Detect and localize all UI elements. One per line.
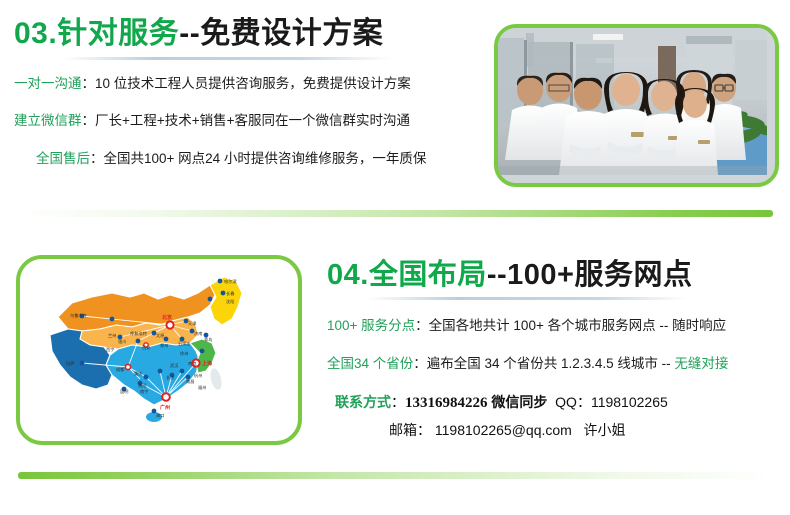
line-separator: ： [413, 356, 427, 371]
list-item: 建立微信群：厂长+工程+技术+销售+客服同在一个微信群实时沟通 [14, 111, 469, 131]
contact-email-line: 邮箱： 1198102265@qq.com 许小姐 [389, 420, 787, 440]
team-photo-frame [494, 24, 779, 187]
line-separator: ： [415, 318, 429, 333]
line-content: 全国各地共计 100+ 各个城市服务网点 -- 随时响应 [429, 318, 726, 333]
china-map-frame: 哈尔滨 长春 沈阳 石家庄 天津 济南 青岛 呼和浩特 太原 郑州 徐州 南京 … [16, 255, 302, 445]
section-04-heading-green: 04.全国布局 [327, 259, 487, 291]
email-address[interactable]: 1198102265@qq.com [435, 422, 572, 438]
svg-text:贵阳: 贵阳 [138, 382, 146, 389]
qq-number[interactable]: 1198102265 [591, 394, 668, 410]
bullet-label: 建立微信群 [14, 113, 82, 128]
line-label: 全国34 个省份 [327, 356, 413, 371]
section-03-heading-rule [62, 57, 392, 60]
promo-page: 03.针对服务--免费设计方案 一对一沟通：10 位技术工程人员提供咨询服务，免… [0, 0, 790, 515]
section-04-line-list: 100+ 服务分点：全国各地共计 100+ 各个城市服务网点 -- 随时响应 全… [327, 316, 787, 373]
svg-text:乌鲁木齐: 乌鲁木齐 [70, 312, 88, 319]
svg-text:石家庄: 石家庄 [178, 340, 191, 347]
svg-text:广州: 广州 [160, 404, 170, 411]
section-04-text-column: 04.全国布局--100+服务网点 100+ 服务分点：全国各地共计 100+ … [327, 260, 787, 440]
bullet-content: 全国共100+ 网点24 小时提供咨询维修服务，一年质保 [104, 151, 427, 166]
list-item: 全国34 个省份：遍布全国 34 个省份共 1.2.3.4.5 线城市 -- 无… [327, 354, 787, 374]
svg-text:沈阳: 沈阳 [226, 298, 234, 305]
svg-text:长沙: 长沙 [166, 374, 175, 381]
section-03-heading: 03.针对服务--免费设计方案 [14, 18, 469, 50]
section-03-bullet-list: 一对一沟通：10 位技术工程人员提供咨询服务，免费提供设计方案 建立微信群：厂长… [14, 74, 469, 169]
section-04-heading-dark: --100+服务网点 [487, 259, 693, 291]
svg-text:北京: 北京 [162, 314, 172, 321]
bullet-label: 全国售后 [36, 151, 90, 166]
contact-phone-line: 联系方式：13316984226 微信同步 QQ：1198102265 [335, 392, 787, 412]
svg-text:青岛: 青岛 [204, 336, 212, 343]
svg-text:兰州: 兰州 [108, 332, 116, 338]
qq-label: QQ： [555, 394, 591, 410]
svg-text:郑州: 郑州 [160, 342, 168, 349]
contact-label: 联系方式 [335, 394, 391, 410]
section-03-service: 03.针对服务--免费设计方案 一对一沟通：10 位技术工程人员提供咨询服务，免… [0, 0, 790, 200]
svg-text:哈尔滨: 哈尔滨 [224, 278, 237, 285]
svg-text:呼和浩特: 呼和浩特 [130, 330, 147, 337]
bullet-content: 厂长+工程+技术+销售+客服同在一个微信群实时沟通 [95, 113, 410, 128]
svg-text:济南: 济南 [194, 330, 202, 337]
section-divider-bottom [18, 472, 773, 479]
line-label: 100+ 服务分点 [327, 318, 415, 333]
contact-block: 联系方式：13316984226 微信同步 QQ：1198102265 邮箱： … [327, 392, 787, 440]
contact-separator: ： [391, 394, 405, 410]
list-item: 一对一沟通：10 位技术工程人员提供咨询服务，免费提供设计方案 [14, 74, 469, 94]
section-04-heading: 04.全国布局--100+服务网点 [327, 260, 787, 290]
team-photo-image [498, 28, 767, 175]
bullet-separator: ： [90, 151, 104, 166]
svg-text:重庆: 重庆 [134, 370, 143, 377]
section-divider-middle [18, 210, 773, 217]
svg-text:天津: 天津 [188, 320, 196, 327]
svg-text:福州: 福州 [198, 384, 206, 391]
svg-text:成都: 成都 [116, 366, 125, 373]
svg-text:南昌: 南昌 [186, 378, 194, 385]
svg-text:南宁: 南宁 [140, 388, 148, 394]
svg-text:海口: 海口 [156, 412, 164, 419]
svg-text:武汉: 武汉 [170, 362, 179, 369]
phone-number[interactable]: 13316984226 [405, 395, 488, 411]
bullet-content: 10 位技术工程人员提供咨询服务，免费提供设计方案 [95, 76, 411, 91]
svg-text:上海: 上海 [202, 360, 212, 367]
svg-text:拉萨: 拉萨 [66, 360, 74, 367]
section-04-heading-rule [367, 297, 687, 300]
china-service-map-image: 哈尔滨 长春 沈阳 石家庄 天津 济南 青岛 呼和浩特 太原 郑州 徐州 南京 … [20, 259, 290, 433]
section-03-heading-dark: --免费设计方案 [179, 17, 383, 50]
svg-text:西宁: 西宁 [106, 346, 114, 353]
svg-text:杭州: 杭州 [194, 372, 202, 379]
svg-text:银川: 银川 [118, 338, 126, 345]
section-04-coverage: 哈尔滨 长春 沈阳 石家庄 天津 济南 青岛 呼和浩特 太原 郑州 徐州 南京 … [0, 240, 790, 470]
svg-text:徐州: 徐州 [180, 350, 188, 357]
svg-text:西安: 西安 [142, 344, 150, 351]
bullet-separator: ： [82, 113, 96, 128]
section-03-text-column: 03.针对服务--免费设计方案 一对一沟通：10 位技术工程人员提供咨询服务，免… [14, 18, 469, 168]
contact-person: 许小姐 [584, 422, 626, 438]
svg-text:南京: 南京 [188, 360, 196, 367]
wechat-note: 微信同步 [491, 394, 547, 410]
email-label: 邮箱： [389, 422, 431, 438]
section-03-heading-green: 03.针对服务 [14, 17, 179, 50]
bullet-separator: ： [82, 76, 96, 91]
svg-text:太原: 太原 [156, 332, 164, 339]
list-item: 100+ 服务分点：全国各地共计 100+ 各个城市服务网点 -- 随时响应 [327, 316, 787, 336]
line-content: 遍布全国 34 个省份共 1.2.3.4.5 线城市 -- [427, 356, 675, 371]
list-item: 全国售后：全国共100+ 网点24 小时提供咨询维修服务，一年质保 [36, 149, 469, 169]
bullet-label: 一对一沟通 [14, 76, 82, 91]
line-tail-highlight: 无缝对接 [674, 356, 728, 371]
svg-text:长春: 长春 [226, 290, 235, 297]
